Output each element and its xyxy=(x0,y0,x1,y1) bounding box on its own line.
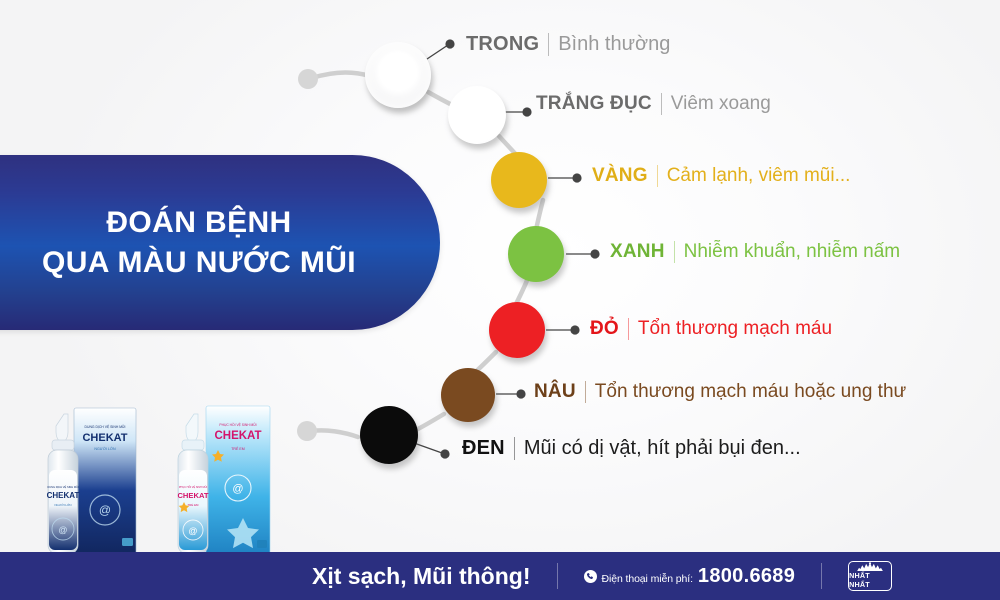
leader-dot-trangduc xyxy=(522,107,531,116)
legend-separator xyxy=(585,381,586,403)
brown-circle[interactable] xyxy=(441,368,495,422)
brand-name: NHẤT NHẤT xyxy=(849,571,891,589)
legend-value-den: Mũi có dị vật, hít phải bụi đen... xyxy=(524,437,801,460)
svg-text:PHỤC HỒI VỆ SINH MŨI: PHỤC HỒI VỆ SINH MŨI xyxy=(219,422,256,427)
title-panel: ĐOÁN BỆNH QUA MÀU NƯỚC MŨI xyxy=(0,155,440,330)
svg-text:TRẺ EM: TRẺ EM xyxy=(231,446,245,451)
svg-text:CHEKAT: CHEKAT xyxy=(47,491,80,500)
legend-separator xyxy=(661,93,662,115)
legend-key-nau: NÂU xyxy=(534,381,576,403)
legend-key-do: ĐỎ xyxy=(590,318,619,340)
legend-value-do: Tổn thương mạch máu xyxy=(638,318,832,340)
legend-separator xyxy=(548,33,549,56)
svg-text:@: @ xyxy=(188,526,197,536)
legend-separator xyxy=(514,437,515,460)
mountain-skyline-icon xyxy=(850,562,890,571)
chain-endpoint-top xyxy=(298,69,318,89)
svg-text:CHEKAT: CHEKAT xyxy=(177,491,208,500)
chain-segment-6 xyxy=(416,414,444,430)
page-title: ĐOÁN BỆNH QUA MÀU NƯỚC MŨI xyxy=(42,203,378,282)
legend-key-trang-duc: TRẮNG ĐỤC xyxy=(536,93,652,115)
chain-segment-start xyxy=(312,73,370,79)
legend-value-trong: Bình thường xyxy=(558,33,670,56)
title-line-1: ĐOÁN BỆNH xyxy=(42,203,356,243)
leader-dot-trong xyxy=(445,39,454,48)
product-bottle-kids: CHEKAT PHỤC HỒI VỆ SINH MŨI TRẺ EM @ xyxy=(177,414,208,554)
footer-phone-number: 1800.6689 xyxy=(698,565,795,588)
product-box-kids: CHEKAT PHỤC HỒI VỆ SINH MŨI TRẺ EM @ xyxy=(206,406,270,558)
svg-text:TRẺ EM: TRẺ EM xyxy=(188,502,200,507)
legend-value-trang-duc: Viêm xoang xyxy=(671,93,771,115)
footer-divider-2 xyxy=(821,563,822,589)
phone-icon xyxy=(584,570,597,583)
yellow-circle[interactable] xyxy=(491,152,547,208)
svg-text:CHEKAT: CHEKAT xyxy=(82,432,127,444)
legend-row-trang-duc: TRẮNG ĐỤC Viêm xoang xyxy=(536,93,771,115)
clear-circle[interactable] xyxy=(365,42,431,108)
red-circle[interactable] xyxy=(489,302,545,358)
footer-bar: Xịt sạch, Mũi thông! Điện thoại miễn phí… xyxy=(0,552,1000,600)
legend-key-xanh: XANH xyxy=(610,241,665,263)
white-circle[interactable] xyxy=(448,86,506,144)
footer-phone[interactable]: Điện thoại miễn phí: 1800.6689 xyxy=(584,565,796,588)
legend-key-trong: TRONG xyxy=(466,33,539,56)
green-circle[interactable] xyxy=(508,226,564,282)
chain-segment-end xyxy=(312,430,358,437)
svg-text:CHEKAT: CHEKAT xyxy=(214,430,261,442)
legend-value-vang: Cảm lạnh, viêm mũi... xyxy=(667,165,851,187)
legend-separator xyxy=(657,165,658,187)
svg-text:PHỤC HỒI VỆ SINH MŨI: PHỤC HỒI VỆ SINH MŨI xyxy=(179,486,208,489)
svg-text:@: @ xyxy=(99,503,111,517)
legend-separator xyxy=(628,318,629,340)
svg-text:@: @ xyxy=(232,483,243,495)
leader-dot-xanh xyxy=(590,249,599,258)
leader-dot-do xyxy=(570,325,579,334)
legend-row-den: ĐEN Mũi có dị vật, hít phải bụi đen... xyxy=(462,437,801,460)
product-images: CHEKAT DUNG DỊCH VỆ SINH MŨI NGƯỜI LỚN @… xyxy=(38,398,278,562)
legend-separator xyxy=(674,241,675,263)
svg-text:NGƯỜI LỚN: NGƯỜI LỚN xyxy=(94,446,116,451)
svg-text:NGƯỜI LỚN: NGƯỜI LỚN xyxy=(54,502,71,507)
legend-row-xanh: XANH Nhiễm khuẩn, nhiễm nấm xyxy=(610,241,900,263)
svg-text:@: @ xyxy=(58,525,67,535)
footer-slogan: Xịt sạch, Mũi thông! xyxy=(312,563,531,590)
legend-row-do: ĐỎ Tổn thương mạch máu xyxy=(590,318,832,340)
chain-endpoint-bottom xyxy=(297,421,317,441)
leader-line-trong xyxy=(424,45,448,61)
product-box-adult: CHEKAT DUNG DỊCH VỆ SINH MŨI NGƯỜI LỚN @ xyxy=(74,408,136,558)
legend-value-nau: Tổn thương mạch máu hoặc ung thư xyxy=(595,381,906,403)
infographic-canvas: TRONG Bình thường TRẮNG ĐỤC Viêm xoang V… xyxy=(0,0,1000,600)
legend-value-xanh: Nhiễm khuẩn, nhiễm nấm xyxy=(684,241,901,263)
leader-dot-den xyxy=(440,449,449,458)
footer-divider-1 xyxy=(557,563,558,589)
black-circle[interactable] xyxy=(360,406,418,464)
legend-key-vang: VÀNG xyxy=(592,165,648,187)
legend-row-nau: NÂU Tổn thương mạch máu hoặc ung thư xyxy=(534,381,906,403)
leader-dot-nau xyxy=(516,389,525,398)
leader-dot-vang xyxy=(572,173,581,182)
svg-text:DUNG DỊCH VỆ SINH MŨI: DUNG DỊCH VỆ SINH MŨI xyxy=(85,424,126,429)
legend-row-trong: TRONG Bình thường xyxy=(466,33,670,56)
footer-phone-label: Điện thoại miễn phí: xyxy=(602,573,693,585)
legend-key-den: ĐEN xyxy=(462,437,505,460)
brand-logo[interactable]: NHẤT NHẤT xyxy=(848,561,892,591)
title-line-2: QUA MÀU NƯỚC MŨI xyxy=(42,243,356,283)
legend-row-vang: VÀNG Cảm lạnh, viêm mũi... xyxy=(592,165,850,187)
